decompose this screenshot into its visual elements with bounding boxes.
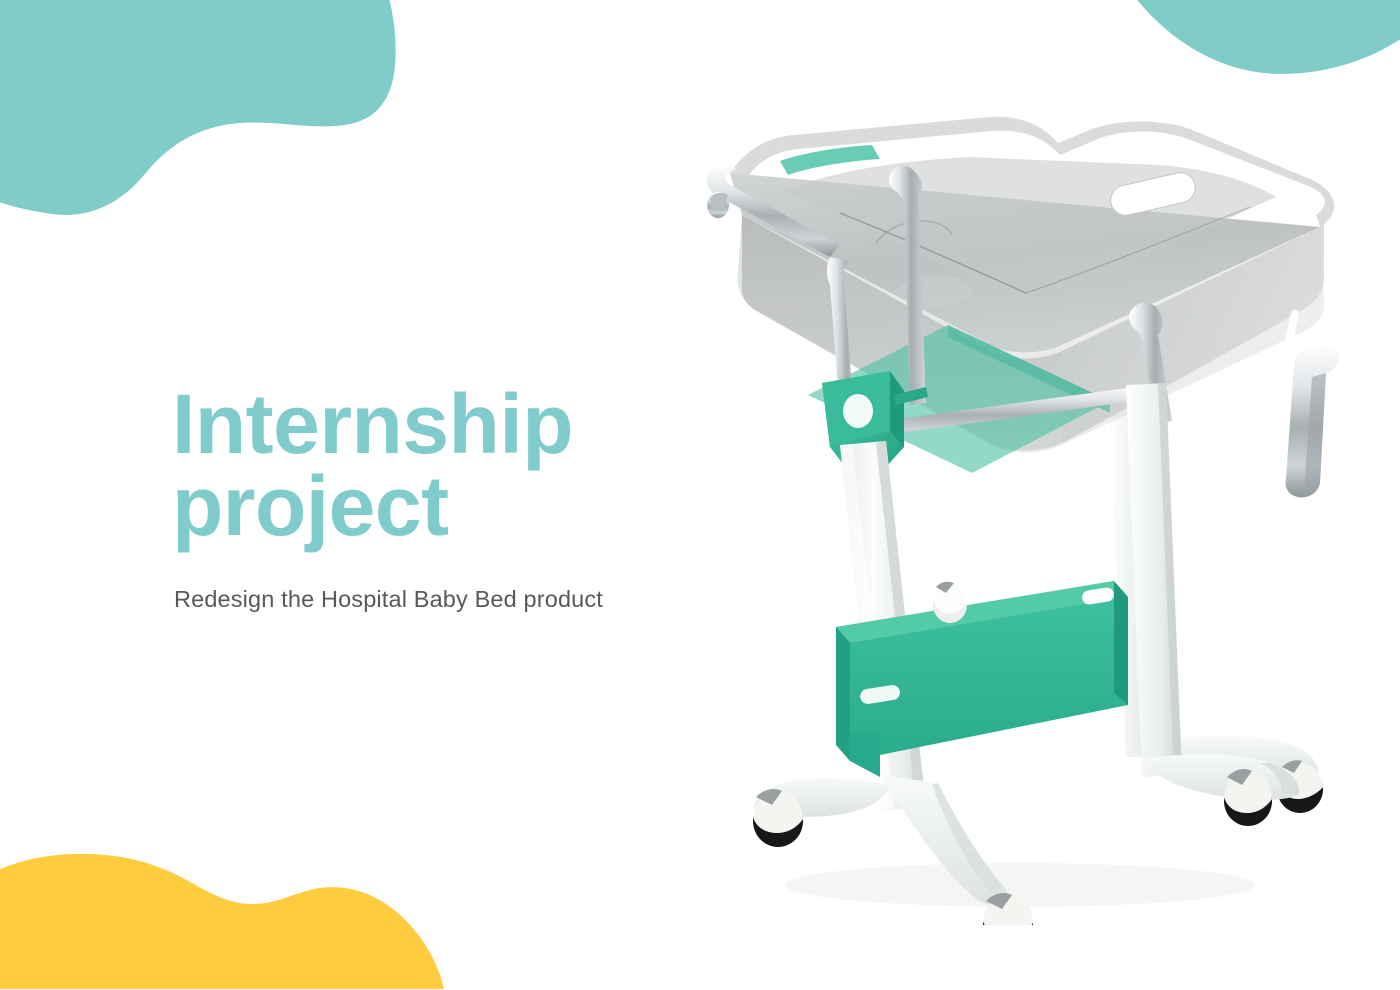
hospital-baby-bed-image [690, 95, 1370, 925]
top-left-blob [0, 0, 426, 239]
bottom-left-blob [0, 839, 456, 990]
caster-wheel-rear-left [933, 582, 967, 623]
slide-canvas: Internship project Redesign the Hospital… [0, 0, 1400, 990]
page-title: Internship project [172, 383, 692, 548]
title-block: Internship project Redesign the Hospital… [172, 383, 692, 613]
top-right-blob [1102, 0, 1400, 91]
page-subtitle: Redesign the Hospital Baby Bed product [174, 586, 692, 613]
